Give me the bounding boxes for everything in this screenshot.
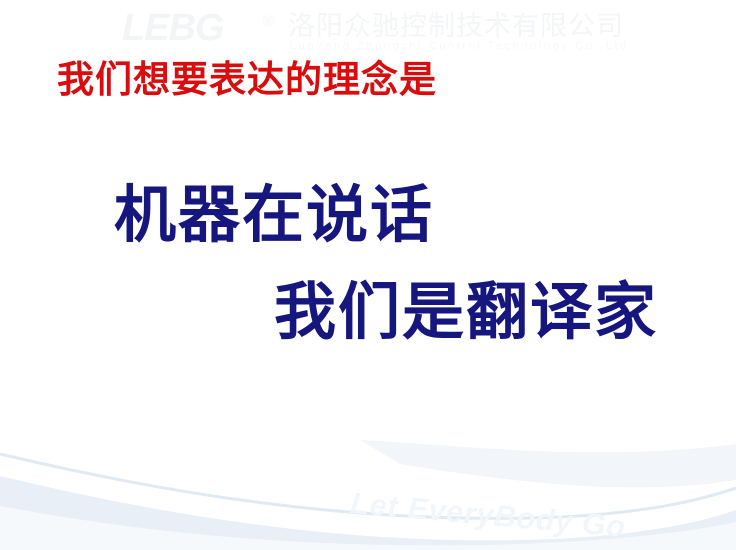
wave-band-mid <box>0 470 736 550</box>
statement-line-1: 机器在说话 <box>114 184 434 249</box>
footer-slogan-watermark: Let EveryBody Go <box>349 489 627 543</box>
wave-upper-right-shade <box>360 440 736 487</box>
wave-crest-white <box>0 450 736 540</box>
company-name-chinese-watermark: 洛阳众驰控制技术有限公司 <box>288 12 624 40</box>
header-watermark: LEBG ® 洛阳众驰控制技术有限公司 LuoYang Zhongchi Con… <box>0 0 736 58</box>
lebg-logo-watermark: LEBG <box>122 9 224 47</box>
wave-lower-trail <box>0 506 736 550</box>
presentation-slide: LEBG ® 洛阳众驰控制技术有限公司 LuoYang Zhongchi Con… <box>0 0 736 550</box>
wave-accent-stroke <box>0 454 736 518</box>
registered-trademark-icon: ® <box>263 14 274 29</box>
footer-wave-decoration <box>0 440 736 550</box>
statement-line-2: 我们是翻译家 <box>274 281 658 346</box>
company-name-english-watermark: LuoYang Zhongchi Control Technology Co.,… <box>290 41 629 52</box>
wave-band-base <box>0 458 736 550</box>
slide-headline: 我们想要表达的理念是 <box>57 61 437 102</box>
